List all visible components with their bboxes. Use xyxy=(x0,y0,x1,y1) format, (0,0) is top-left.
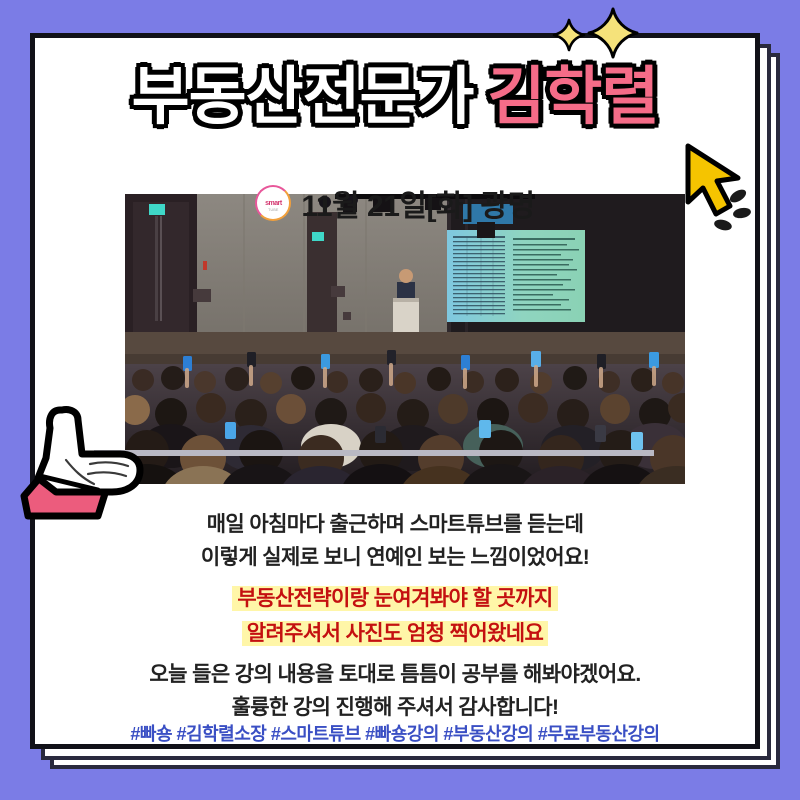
lecture-photo-graphic xyxy=(125,194,685,484)
subtitle-row: smart TUBE 11월 21일[화] 광명 xyxy=(35,181,755,225)
photo-drop-shadow xyxy=(94,450,654,456)
cursor-arrow-icon xyxy=(676,140,772,236)
main-card: 부동산전문가김학렬 smart TUBE 11월 21일[화] 광명 xyxy=(30,33,760,749)
body-line-4-highlight: 알려주셔서 사진도 엄청 찍어왔네요 xyxy=(35,617,755,650)
brand-logo-icon: smart TUBE xyxy=(255,185,291,221)
testimonial-body: 매일 아침마다 출근하며 스마트튜브를 듣는데 이렇게 실제로 보니 연예인 보… xyxy=(35,508,755,724)
event-date-location: 11월 21일[화] 광명 xyxy=(301,181,534,225)
page-title: 부동산전문가김학렬 xyxy=(35,65,755,128)
hashtag-line: #빠숑 #김학렬소장 #스마트튜브 #빠숑강의 #부동산강의 #무료부동산강의 xyxy=(35,720,755,746)
lecture-photo xyxy=(125,194,685,484)
brand-logo-mark: smart xyxy=(265,200,282,207)
body-line-4-text: 알려주셔서 사진도 엄청 찍어왔네요 xyxy=(242,621,549,646)
body-line-2: 이렇게 실제로 보니 연예인 보는 느낌이었어요! xyxy=(35,541,755,574)
title-main-text: 부동산전문가 xyxy=(132,65,474,128)
body-line-5: 오늘 들은 강의 내용을 토대로 틈틈이 공부를 해봐야겠어요. xyxy=(35,658,755,691)
thumbs-up-hand-icon xyxy=(16,398,152,520)
sparkle-star-icon-large xyxy=(586,6,640,60)
body-line-3-highlight: 부동산전략이랑 눈여겨봐야 할 곳까지 xyxy=(35,582,755,615)
sparkle-star-icon-small xyxy=(552,18,586,52)
body-line-3-text: 부동산전략이랑 눈여겨봐야 할 곳까지 xyxy=(232,586,557,611)
title-name-text: 김학렬 xyxy=(487,65,658,128)
brand-logo-sub: TUBE xyxy=(268,208,279,212)
